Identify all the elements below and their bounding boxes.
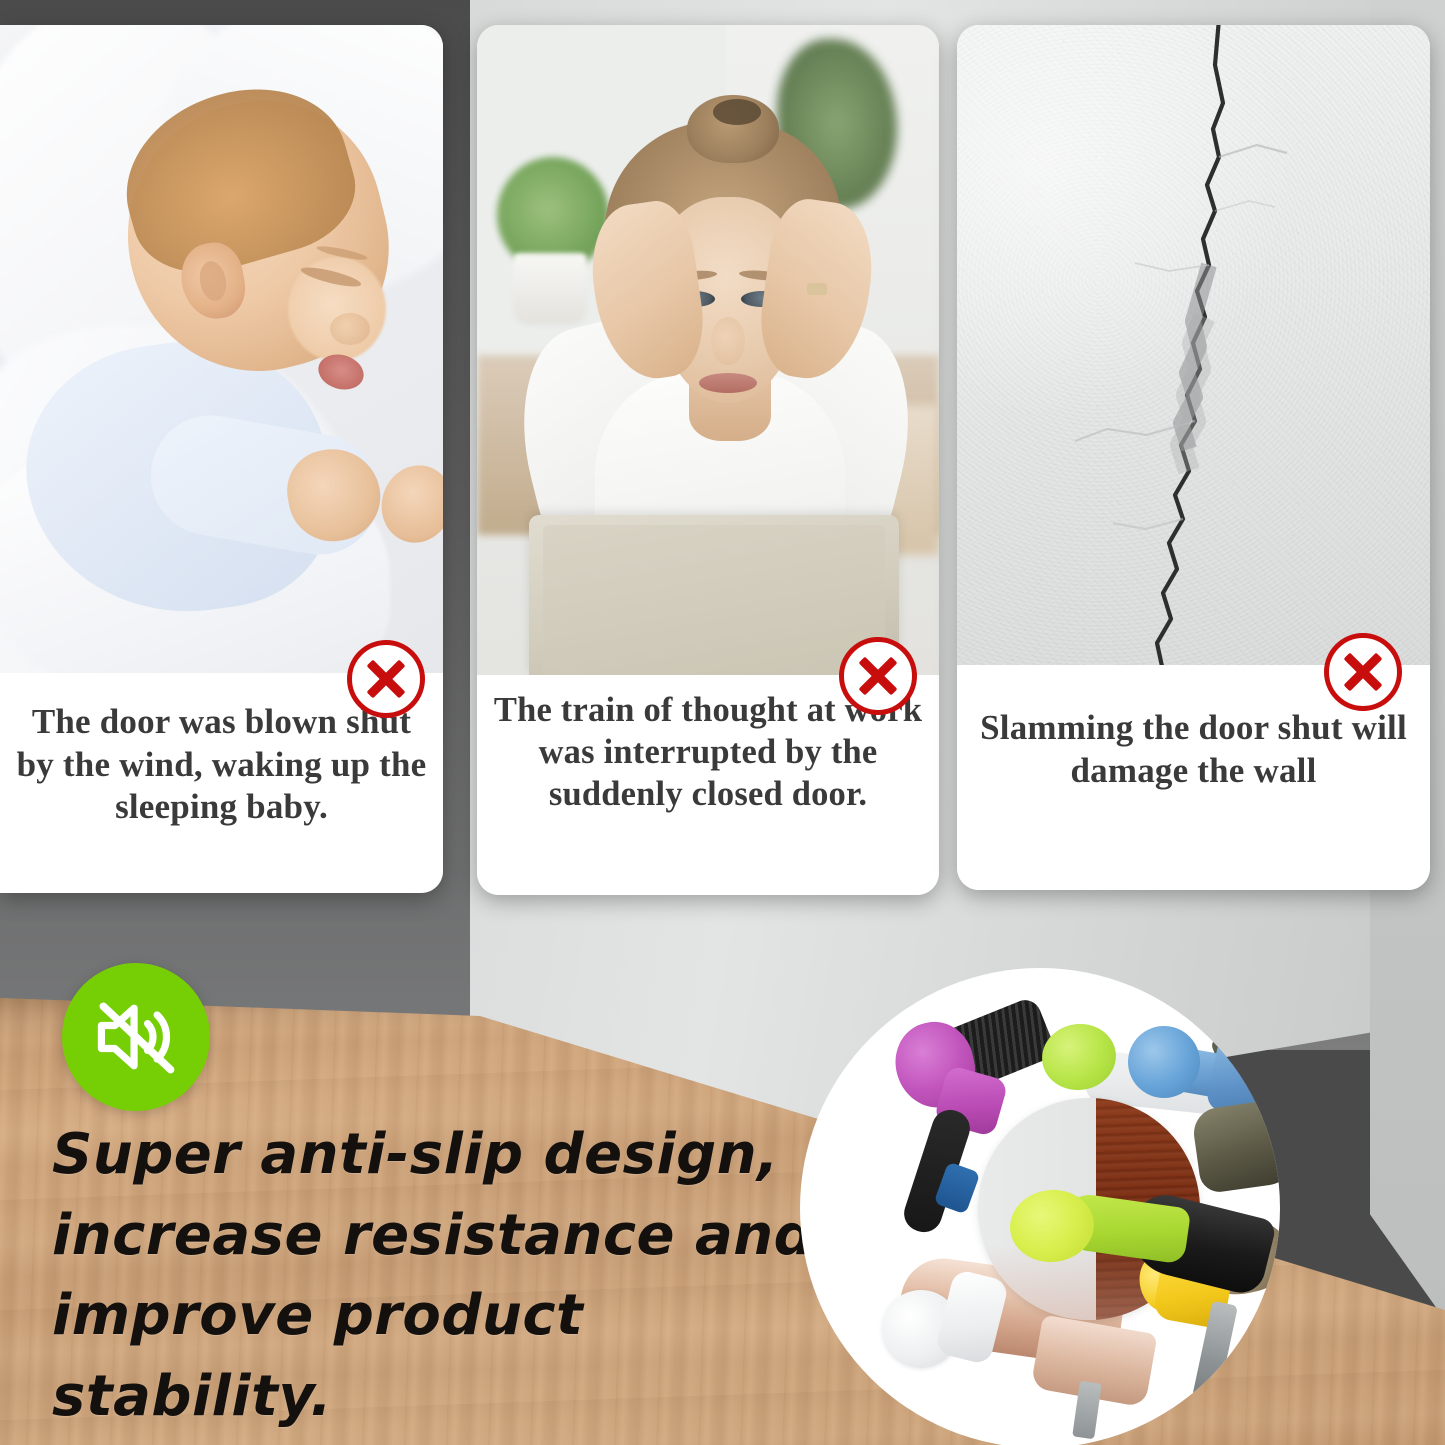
- door-handle-bronze: [1191, 1098, 1280, 1195]
- headline-line-3: improve product stability.: [52, 1276, 872, 1437]
- marketing-image-canvas: The door was blown shut by the wind, wak…: [0, 0, 1445, 1445]
- problem-cards-row: The door was blown shut by the wind, wak…: [0, 0, 1445, 915]
- red-x-circle-icon: [347, 640, 425, 718]
- problem-card-work[interactable]: The train of thought at work was interru…: [477, 25, 939, 895]
- speaker-mute-icon: [88, 989, 184, 1085]
- mute-badge: [62, 963, 210, 1111]
- headline-line-2: increase resistance and: [52, 1196, 872, 1277]
- product-showcase-circle: [800, 968, 1280, 1445]
- problem-card-baby[interactable]: The door was blown shut by the wind, wak…: [0, 25, 443, 893]
- caption-text: Slamming the door shut will damage the w…: [971, 707, 1416, 792]
- red-x-circle-icon: [839, 637, 917, 715]
- wall-crack-graphic: [957, 25, 1430, 665]
- caption-text: The door was blown shut by the wind, wak…: [14, 701, 429, 829]
- feature-headline: Super anti-slip design, increase resista…: [52, 1115, 872, 1438]
- sleeping-baby-photo: [0, 25, 443, 673]
- problem-card-wall[interactable]: Slamming the door shut will damage the w…: [957, 25, 1430, 890]
- headline-line-1: Super anti-slip design,: [52, 1115, 872, 1196]
- stressed-woman-photo: [477, 25, 939, 675]
- red-x-circle-icon: [1324, 633, 1402, 711]
- cracked-wall-photo: [957, 25, 1430, 665]
